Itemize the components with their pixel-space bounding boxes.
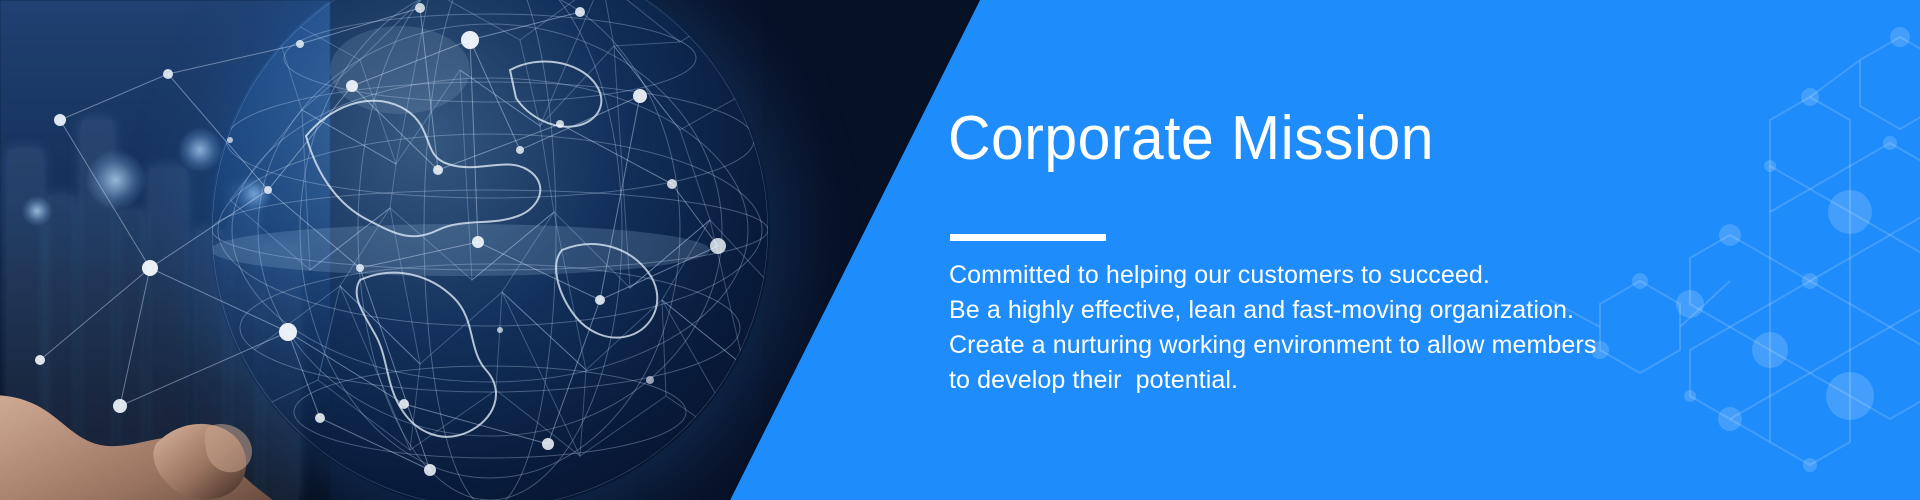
mission-line: Be a highly effective, lean and fast-mov… (949, 293, 1596, 328)
title-divider (950, 234, 1106, 241)
globe-network-photo (0, 0, 980, 500)
mission-statement-list: Committed to helping our customers to su… (949, 258, 1596, 398)
mission-line: to develop their potential. (949, 363, 1596, 398)
corporate-mission-banner: Corporate Mission Committed to helping o… (0, 0, 1920, 500)
network-nodes-overlay (0, 0, 980, 500)
page-title: Corporate Mission (948, 108, 1434, 170)
mission-line: Committed to helping our customers to su… (949, 258, 1596, 293)
mission-content: Corporate Mission Committed to helping o… (948, 0, 1708, 500)
mission-line: Create a nurturing working environment t… (949, 328, 1596, 363)
